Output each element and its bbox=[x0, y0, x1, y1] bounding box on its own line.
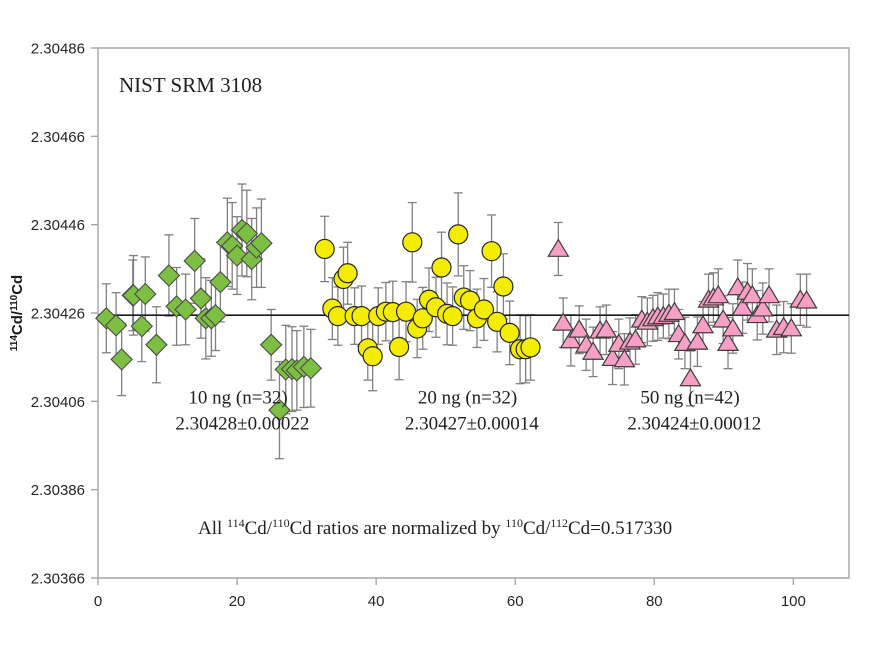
data-point-circle bbox=[449, 225, 468, 244]
x-tick-label: 80 bbox=[646, 593, 663, 610]
group-50ng-label: 50 ng (n=42) bbox=[640, 388, 739, 409]
x-tick-label: 0 bbox=[94, 593, 102, 610]
group-10ng-label: 10 ng (n=32) bbox=[188, 388, 287, 409]
data-point-circle bbox=[432, 258, 451, 277]
data-point-circle bbox=[482, 242, 501, 261]
y-tick-label: 2.30426 bbox=[31, 306, 85, 323]
y-tick-label: 2.30466 bbox=[31, 129, 85, 146]
data-point-circle bbox=[390, 338, 409, 357]
x-tick-label: 100 bbox=[781, 593, 806, 610]
chart-background bbox=[0, 0, 869, 653]
x-tick-label: 20 bbox=[229, 593, 246, 610]
y-tick-label: 2.30386 bbox=[31, 482, 85, 499]
data-point-circle bbox=[363, 347, 382, 366]
data-point-circle bbox=[494, 277, 513, 296]
group-20ng-label: 20 ng (n=32) bbox=[418, 388, 517, 409]
data-point-circle bbox=[403, 233, 422, 252]
data-point-circle bbox=[443, 307, 462, 326]
plot-title: NIST SRM 3108 bbox=[119, 73, 262, 97]
y-tick-label: 2.30446 bbox=[31, 217, 85, 234]
group-20ng-value: 2.30427±0.00014 bbox=[405, 414, 539, 435]
data-point-circle bbox=[500, 323, 519, 342]
group-10ng-value: 2.30428±0.00022 bbox=[175, 414, 309, 435]
y-tick-label: 2.30406 bbox=[31, 394, 85, 411]
data-point-circle bbox=[338, 264, 357, 283]
y-tick-label: 2.30366 bbox=[31, 571, 85, 588]
y-tick-label: 2.30486 bbox=[31, 41, 85, 58]
data-point-circle bbox=[315, 239, 334, 258]
cadmium-isotope-ratio-chart: 2.303662.303862.304062.304262.304462.304… bbox=[0, 0, 869, 653]
x-tick-label: 40 bbox=[368, 593, 385, 610]
data-point-circle bbox=[521, 338, 540, 357]
x-tick-label: 60 bbox=[507, 593, 524, 610]
footnote-text: All 114Cd/110Cd ratios are normalized by… bbox=[198, 516, 672, 539]
figure-container: 2.303662.303862.304062.304262.304462.304… bbox=[0, 0, 869, 653]
group-50ng-value: 2.30424±0.00012 bbox=[627, 414, 761, 435]
footnote: All 114Cd/110Cd ratios are normalized by… bbox=[198, 516, 672, 539]
